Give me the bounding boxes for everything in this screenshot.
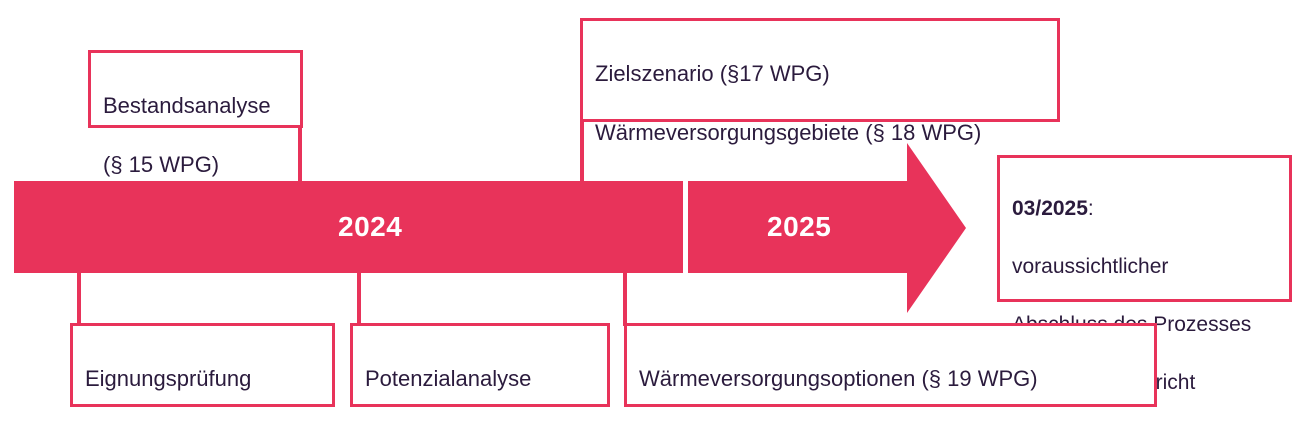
callout-abschluss[interactable]: 03/2025: voraussichtlicher Abschluss des… (997, 155, 1292, 302)
connector-potenzialanalyse (357, 268, 361, 326)
callout-date-suffix: : (1088, 197, 1094, 220)
callout-line: voraussichtlicher (1012, 253, 1277, 282)
connector-eignungspruefung (77, 268, 81, 326)
timeline-label-2025: 2025 (767, 213, 831, 241)
timeline-diagram: 2024 2025 Bestandsanalyse (§ 15 WPG) Zie… (0, 0, 1300, 421)
callout-line: Bestandsanalyse (103, 91, 288, 121)
callout-line: Potenzialanalyse (365, 364, 595, 394)
callout-eignungspruefung[interactable]: Eignungsprüfung nach (§ 14 WPG) (70, 323, 335, 407)
callout-line: (§ 15 WPG) (103, 150, 288, 180)
connector-zielszenario (580, 120, 584, 186)
connector-waermeversorgungsoptionen (623, 268, 627, 326)
callout-line: Wärmeversorgungsgebiete (§ 18 WPG) (595, 118, 1045, 148)
callout-line: Wärmeversorgungsoptionen (§ 19 WPG) (639, 364, 1142, 394)
callout-line: Zielszenario (§17 WPG) (595, 59, 1045, 89)
connector-bestandsanalyse (298, 126, 302, 186)
callout-line: Eignungsprüfung (85, 364, 320, 394)
callout-bestandsanalyse[interactable]: Bestandsanalyse (§ 15 WPG) (88, 50, 303, 128)
callout-zielszenario[interactable]: Zielszenario (§17 WPG) Wärmeversorgungsg… (580, 18, 1060, 122)
callout-waermeversorgungsoptionen[interactable]: Wärmeversorgungsoptionen (§ 19 WPG) Umse… (624, 323, 1157, 407)
callout-potenzialanalyse[interactable]: Potenzialanalyse (§ 16 WPG) (350, 323, 610, 407)
callout-line-date: 03/2025: (1012, 195, 1277, 224)
callout-date-bold: 03/2025 (1012, 197, 1088, 220)
timeline-label-2024: 2024 (338, 213, 402, 241)
